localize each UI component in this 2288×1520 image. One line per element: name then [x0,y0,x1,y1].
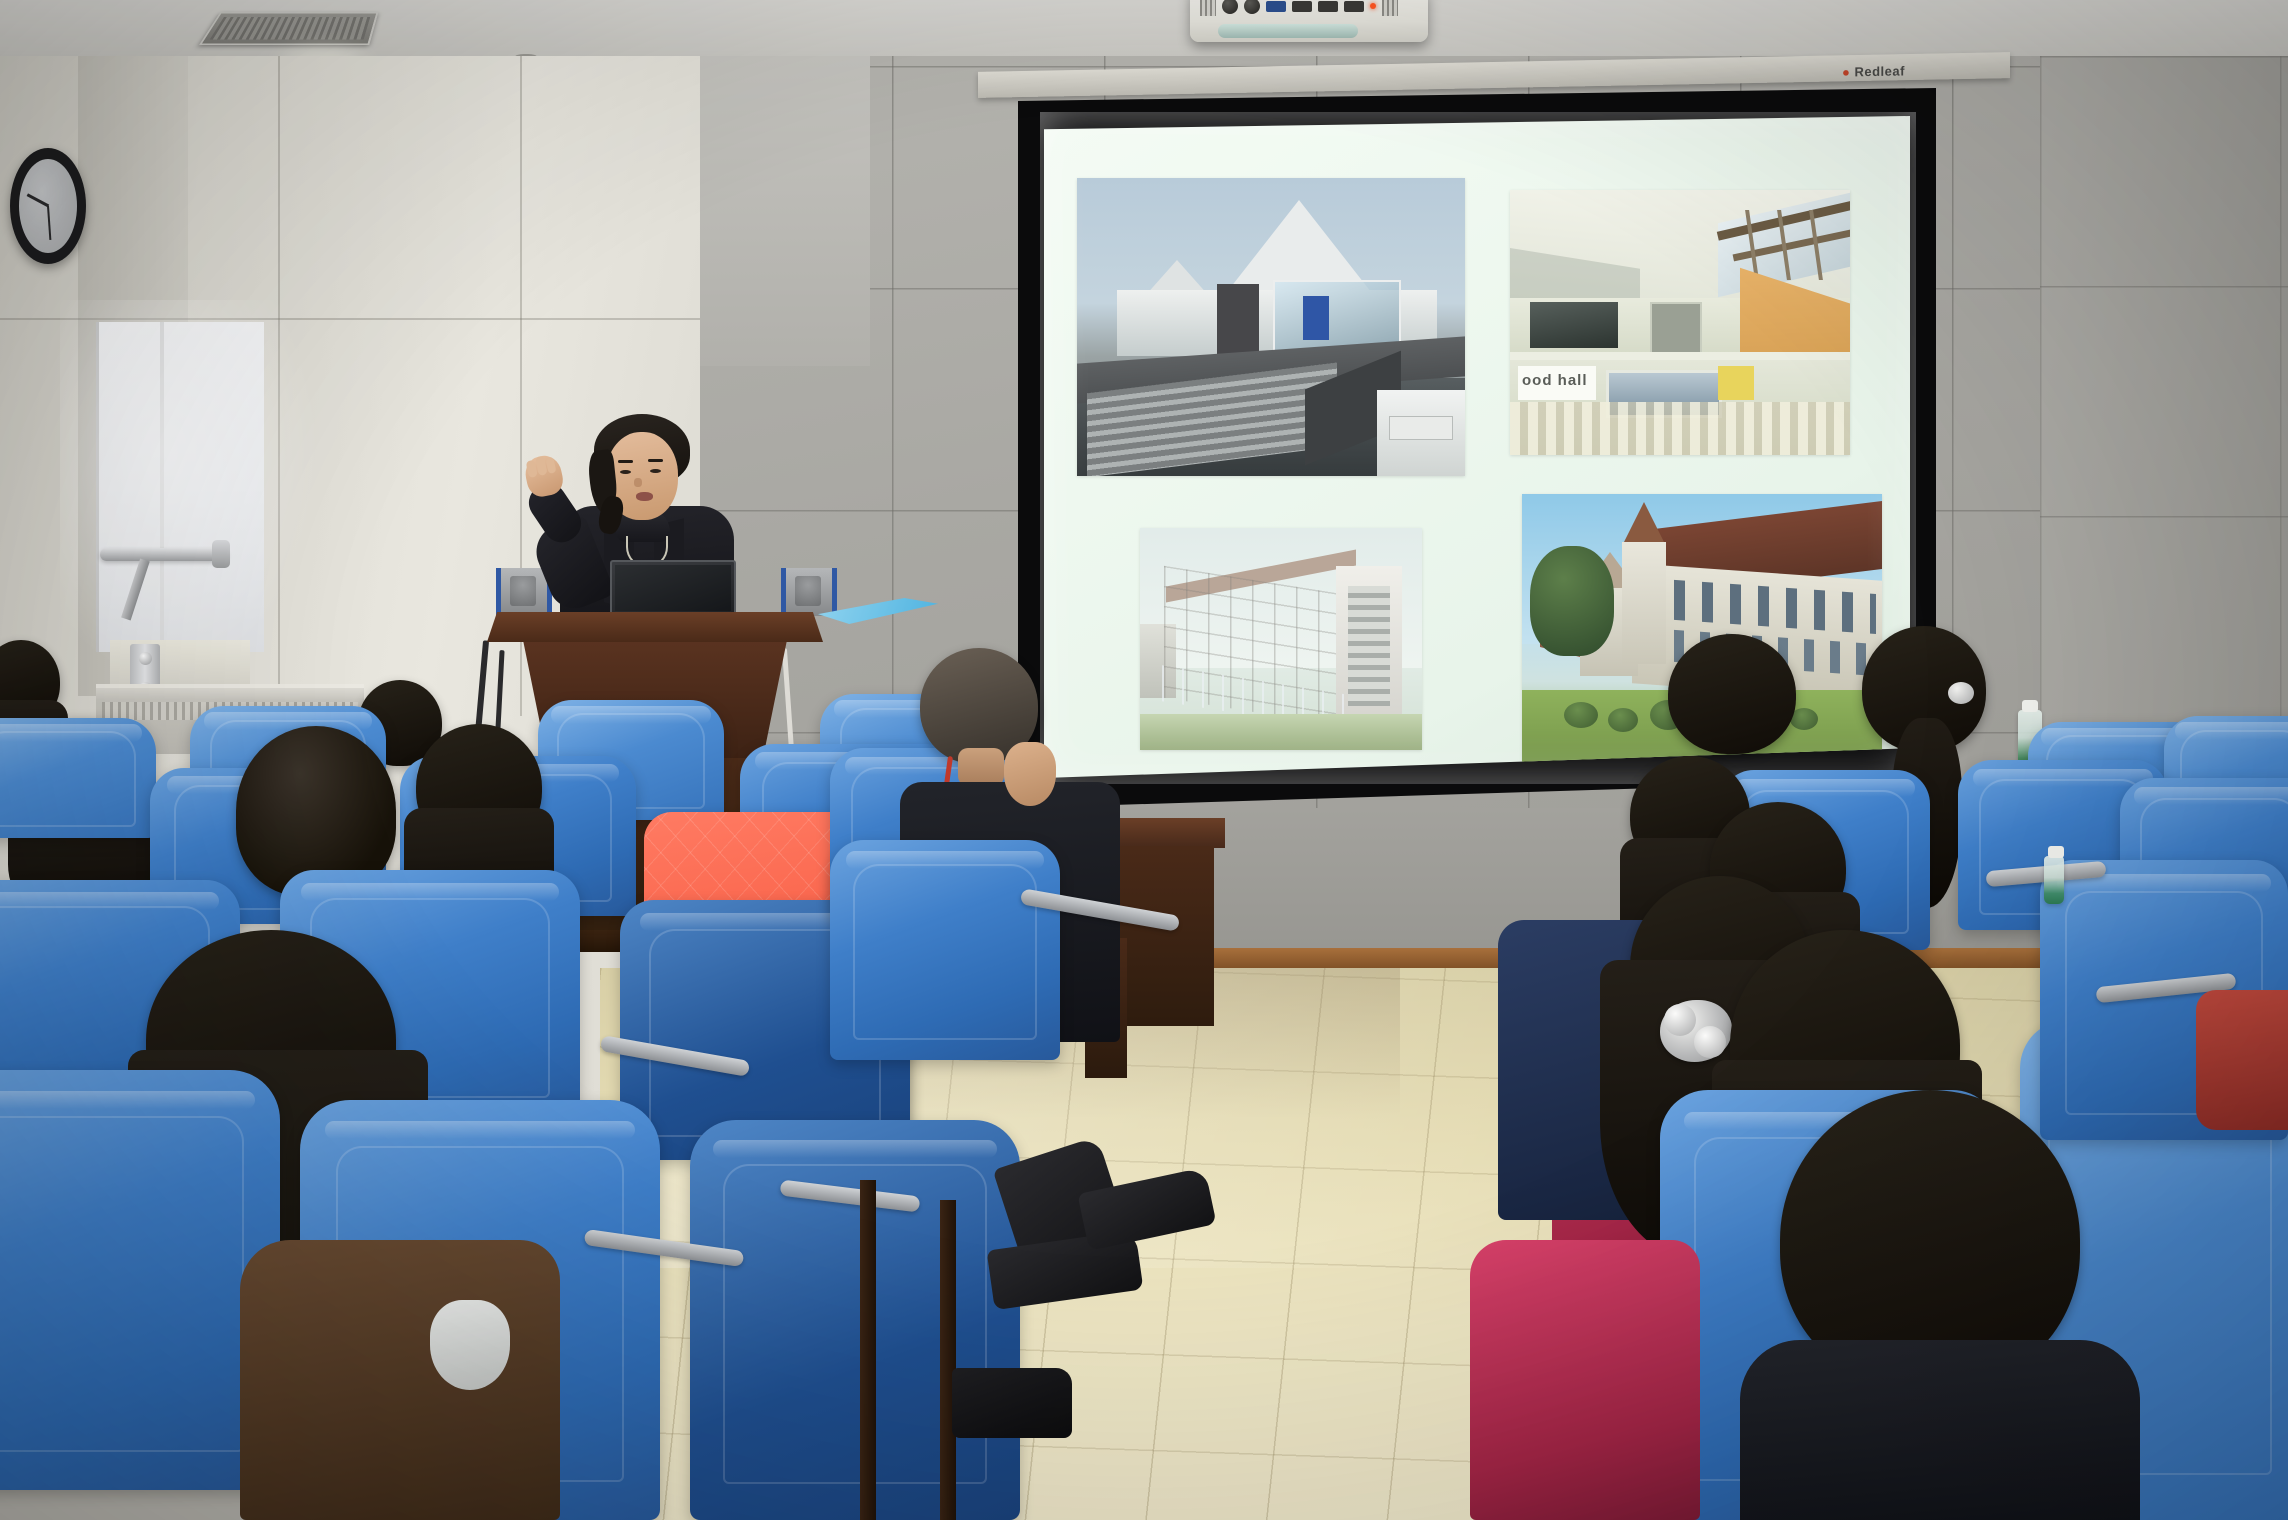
wall-seam [278,56,280,716]
projector-vent-icon [1200,0,1216,16]
seat[interactable] [0,718,156,838]
slide-photo-top-right: ood hall [1510,190,1850,455]
projector-vent-icon [1382,0,1398,16]
slide-photo-bottom-left [1140,528,1422,750]
projector-port-panel [1200,0,1418,18]
vga-port-icon [1266,1,1286,12]
projector-focus-knob-icon[interactable] [1222,0,1238,14]
audience-jacket-red [1470,1240,1700,1520]
audience-neck [958,748,1004,786]
audience-shoe [952,1368,1072,1438]
projector-lens-icon [1218,24,1358,38]
clock-minute-hand [47,206,51,240]
presenter-mouth [636,492,653,501]
clock-hour-hand [26,193,49,207]
screen-brand-label: ● Redleaf [1842,63,1905,79]
seat-support-post [940,1200,956,1520]
presenter-nose [634,478,642,487]
power-led-icon [1370,3,1376,9]
clock-face [19,159,77,253]
air-vent-grille-icon [199,12,378,45]
ceiling-projector[interactable] [1190,0,1428,42]
flower-hairpin-icon [1660,1000,1732,1062]
window-mullion [160,322,164,652]
presenter-laptop[interactable] [610,560,736,616]
audience-jacket-sliver [2196,990,2288,1130]
audience-torso-foreground [1740,1340,2140,1520]
laptop-screen [615,565,731,611]
hdmi-port-icon [1292,1,1312,12]
audience-torso-brown-coat [240,1240,560,1520]
seat[interactable] [690,1120,1020,1520]
seat[interactable] [0,1070,280,1490]
audience-hand [430,1300,510,1390]
wall-handrail [100,548,228,561]
lan-port-icon [1344,1,1364,12]
projector-zoom-knob-icon[interactable] [1244,0,1260,14]
audience-head [1668,634,1796,754]
wall-clock [10,148,86,264]
handrail-end-cap [212,540,230,568]
slide-photo-text: ood hall [1522,372,1588,389]
back-wall-upper-left-panel [690,56,870,366]
podium-speaker-right [781,568,837,616]
seat[interactable] [830,840,1060,1060]
hair-clip-icon [1948,682,1974,704]
audience-hand [1004,742,1056,806]
side-table-top [1105,818,1225,848]
seat-support-post [860,1180,876,1520]
brand-dot-icon: ● [1842,64,1850,79]
left-window [96,322,264,652]
slide-photo-top-left [1077,178,1465,476]
water-bottle[interactable] [2044,856,2064,904]
wall-seam [0,318,700,320]
usb-port-icon [1318,1,1338,12]
side-table-body [1118,846,1214,1026]
podium-top-surface [487,612,823,642]
lecture-hall-scene: ● Redleaf ood hall [0,0,2288,1520]
